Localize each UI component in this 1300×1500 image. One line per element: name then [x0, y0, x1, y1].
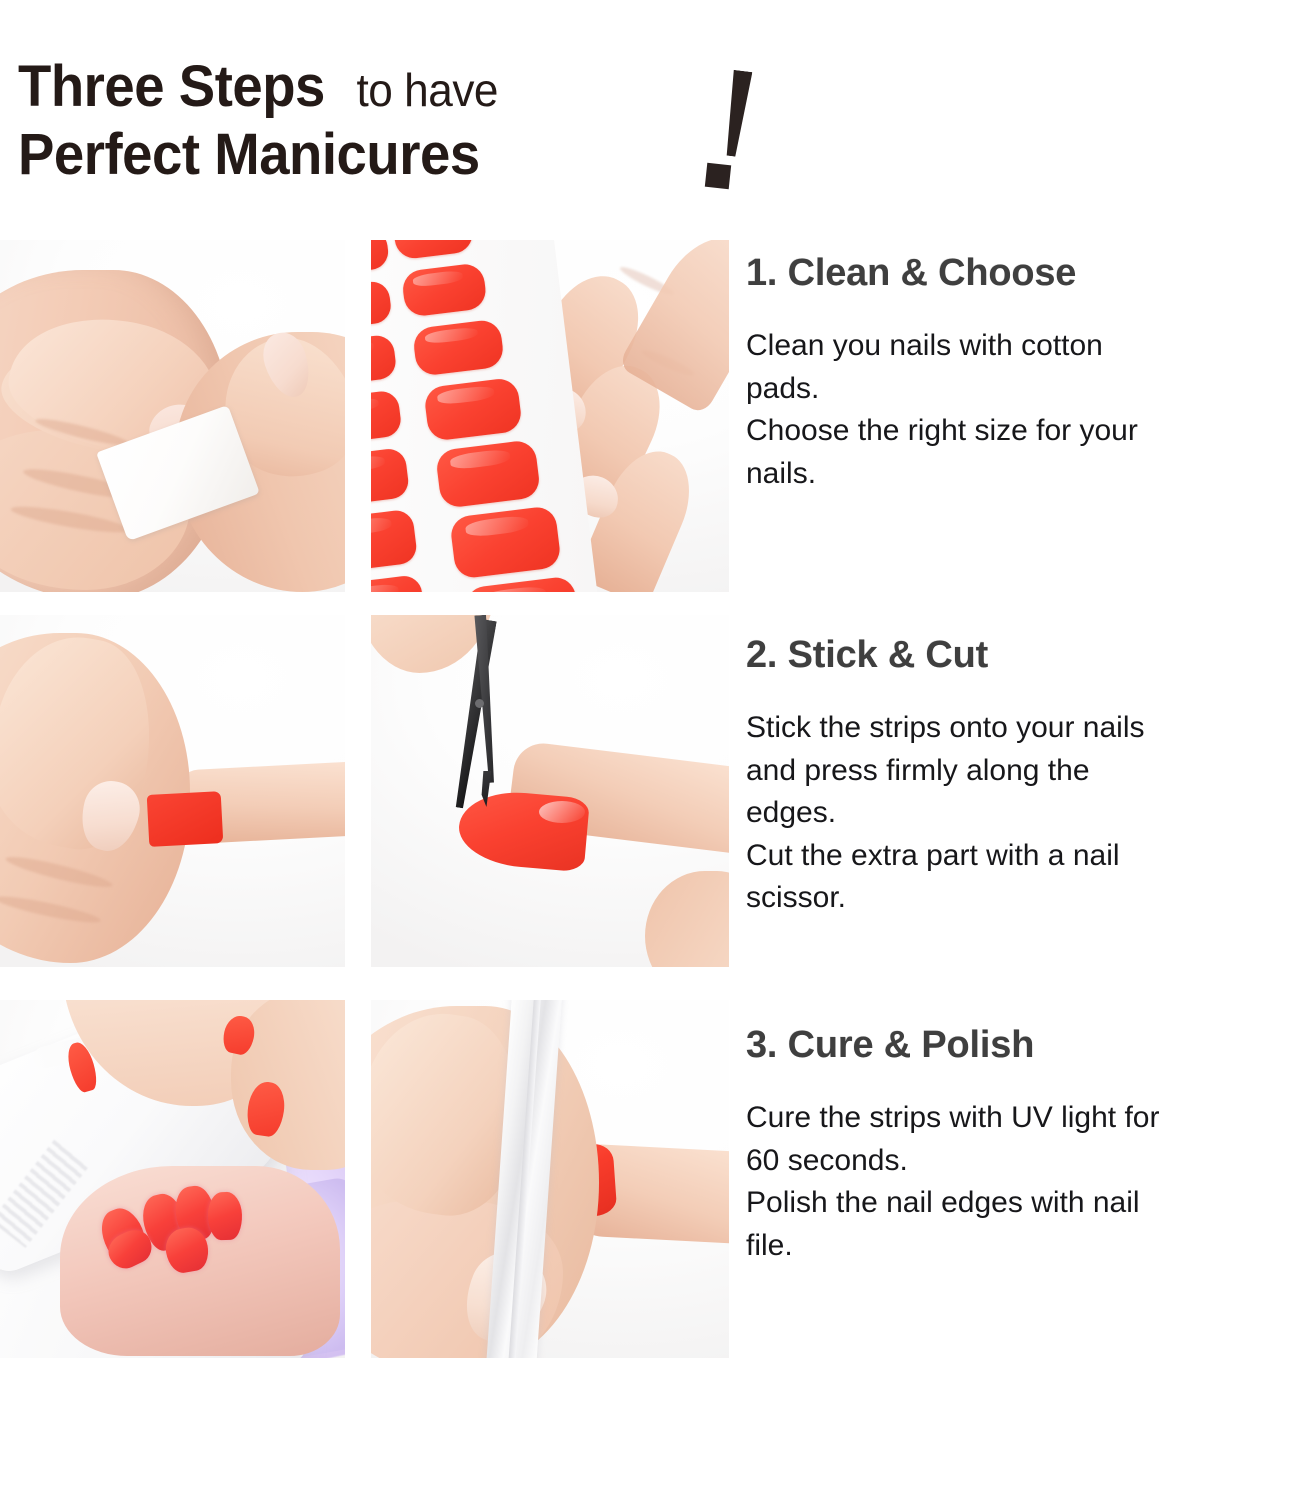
- step-3-heading: 3. Cure & Polish: [746, 1024, 1298, 1067]
- step-2: 2. Stick & Cut Stick the strips onto you…: [746, 634, 1298, 920]
- nail-strip: [371, 389, 403, 444]
- step-2-heading: 2. Stick & Cut: [746, 634, 1298, 677]
- step-3-body-line: Polish the nail edges with nail: [746, 1182, 1300, 1225]
- step-2-body: Stick the strips onto your nails and pre…: [746, 707, 1300, 920]
- step-3: 3. Cure & Polish Cure the strips with UV…: [746, 1024, 1298, 1267]
- nail-strip: [401, 262, 488, 318]
- step-1-body-line: Choose the right size for your: [746, 410, 1300, 453]
- exclamation-mark-icon: [700, 70, 770, 200]
- nail-strip: [449, 505, 562, 579]
- step-2-body-line: and press firmly along the: [746, 750, 1300, 793]
- nail-strip: [412, 318, 505, 376]
- page-title: Three Stepsto have Perfect Manicures: [18, 58, 778, 208]
- step-1-body-line: pads.: [746, 368, 1300, 411]
- nail-strip: [371, 509, 418, 573]
- step-3-body: Cure the strips with UV light for 60 sec…: [746, 1097, 1300, 1267]
- photo-cutting-extra-strip-with-nail-scissors: [371, 615, 729, 967]
- title-light-1: to have: [345, 67, 498, 113]
- scissor-pivot-screw: [475, 699, 484, 708]
- title-strong-1: Three Steps: [18, 58, 325, 116]
- step-3-body-line: 60 seconds.: [746, 1140, 1300, 1183]
- exclamation-dot: [705, 163, 731, 189]
- title-strong-2: Perfect Manicures: [18, 126, 480, 184]
- step-1-body-line: Clean you nails with cotton: [746, 325, 1300, 368]
- red-nail: [207, 1191, 243, 1240]
- nail-strip: [371, 280, 393, 331]
- nail-strip: [371, 334, 398, 387]
- step-1-body-line: nails.: [746, 453, 1300, 496]
- photo-grid: [0, 240, 730, 1358]
- step-3-body-line: file.: [746, 1225, 1300, 1268]
- photo-clean-nail-with-cotton-pad: [0, 240, 345, 592]
- photo-sticking-red-strip-onto-nail: [0, 615, 345, 967]
- step-2-body-line: Stick the strips onto your nails: [746, 707, 1300, 750]
- exclamation-stem: [718, 69, 752, 157]
- title-line-1: Three Stepsto have: [18, 58, 778, 116]
- photo-red-nail-strip-sheet-and-bare-fingers: [371, 240, 729, 592]
- nail-strip: [423, 377, 523, 442]
- nail-strip: [371, 240, 390, 276]
- step-2-body-line: scissor.: [746, 877, 1300, 920]
- nail-strip: [464, 575, 581, 592]
- step-2-body-line: Cut the extra part with a nail: [746, 835, 1300, 878]
- nail-strip: [371, 447, 410, 507]
- step-1-heading: 1. Clean & Choose: [746, 252, 1298, 295]
- nail-gloss: [539, 801, 585, 823]
- red-nail-strip: [147, 791, 224, 847]
- step-1: 1. Clean & Choose Clean you nails with c…: [746, 252, 1298, 495]
- nail-strip: [435, 439, 541, 509]
- nail-strip: [371, 574, 427, 592]
- step-3-body-line: Cure the strips with UV light for: [746, 1097, 1300, 1140]
- photo-curing-nails-in-uv-lamp: [0, 1000, 345, 1358]
- title-line-2: Perfect Manicures: [18, 126, 778, 184]
- photo-polishing-nail-edge-with-file: [371, 1000, 729, 1358]
- step-1-body: Clean you nails with cotton pads. Choose…: [746, 325, 1300, 495]
- step-2-body-line: edges.: [746, 792, 1300, 835]
- nail-strip: [392, 240, 475, 260]
